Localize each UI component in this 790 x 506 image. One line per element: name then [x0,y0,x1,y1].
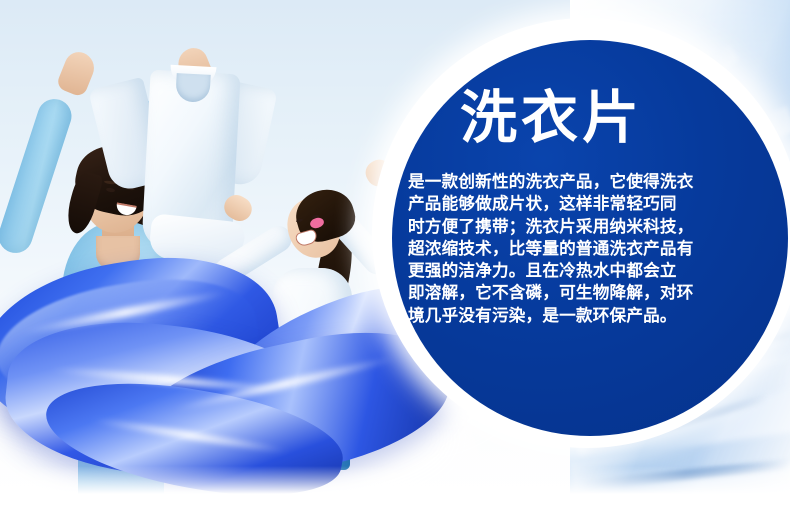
product-description: 是一款创新性的洗衣产品，它使得洗衣 产品能够做成片状，这样非常轻巧同 时方便了携… [408,171,718,327]
description-line: 更强的洁净力。且在冷热水中都会立 [408,260,718,282]
description-line: 时方便了携带；洗衣片采用纳米科技， [408,216,718,238]
description-line: 即溶解，它不含磷，可生物降解，对环 [408,282,718,304]
product-title: 洗衣片 [460,88,643,148]
description-line: 超浓缩技术，比等量的普通洗衣产品有 [408,238,718,260]
product-info-card: 洗衣片 是一款创新性的洗衣产品，它使得洗衣 产品能够做成片状，这样非常轻巧同 时… [392,40,788,436]
description-line: 境几乎没有污染，是一款环保产品。 [408,305,718,327]
description-line: 产品能够做成片状，这样非常轻巧同 [408,193,718,215]
description-line: 是一款创新性的洗衣产品，它使得洗衣 [408,171,718,193]
woman-left-arm [0,95,76,258]
product-banner: 洗衣片 是一款创新性的洗衣产品，它使得洗衣 产品能够做成片状，这样非常轻巧同 时… [0,0,790,506]
bottom-fade-overlay [0,466,790,506]
